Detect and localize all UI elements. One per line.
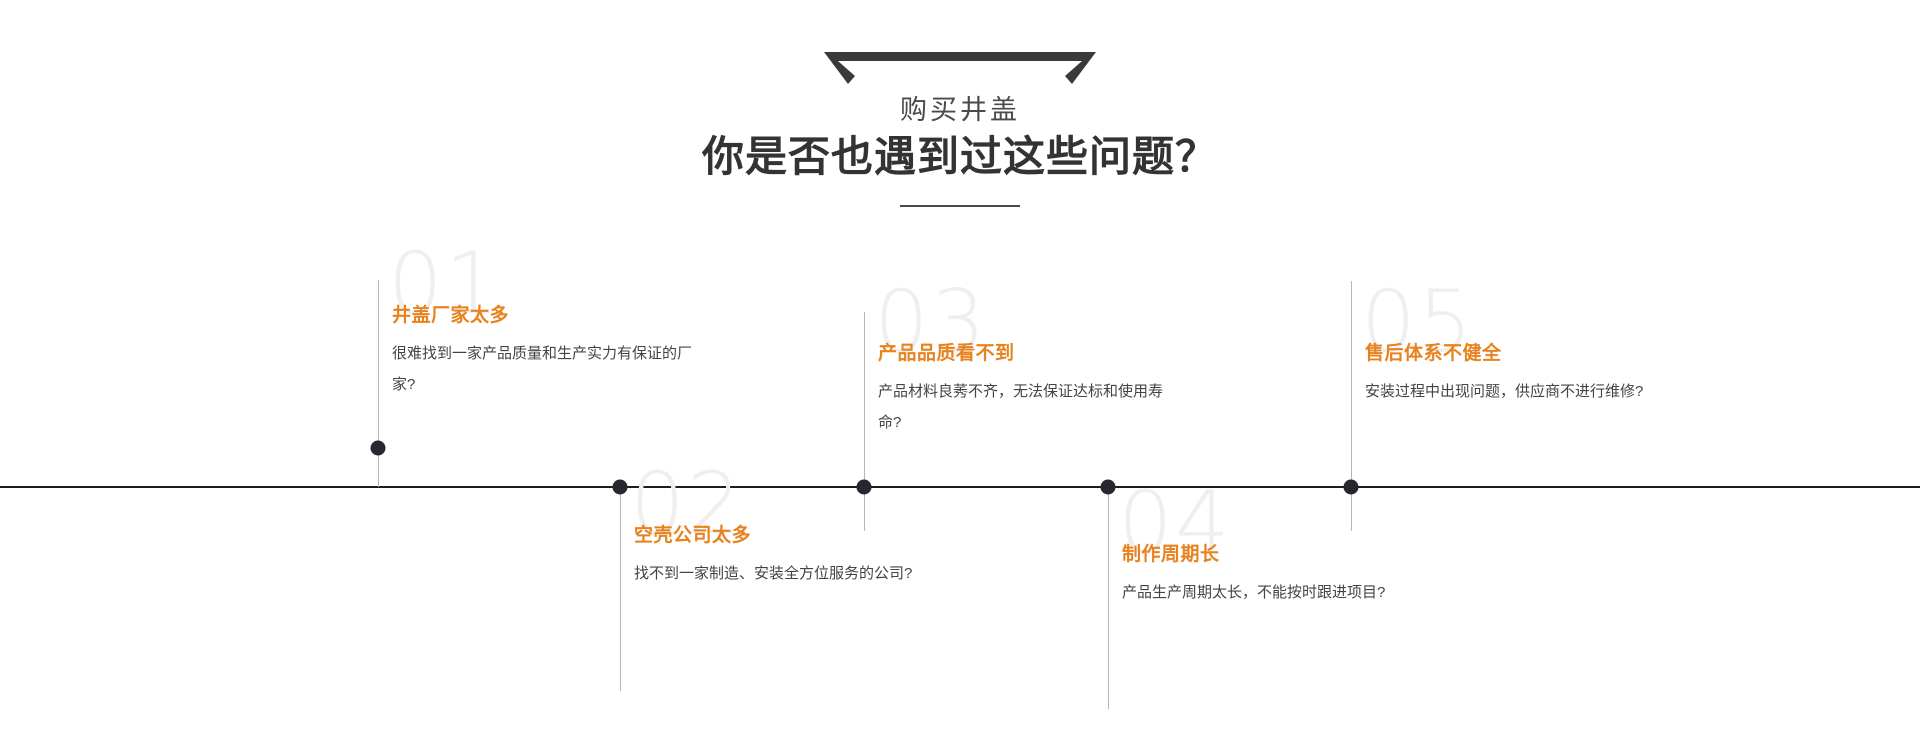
- connector-line-3: [864, 312, 865, 531]
- connector-line-1: [378, 280, 379, 487]
- timeline-dot-1[interactable]: [371, 441, 386, 456]
- bracket-chevron-icon: [824, 52, 1096, 84]
- page-title: 你是否也遇到过这些问题？: [702, 130, 1218, 184]
- item-description-4: 产品生产周期太长，不能按时跟进项目?: [1122, 577, 1422, 608]
- timeline-item-5: 05 售后体系不健全 安装过程中出现问题，供应商不进行维修?: [1365, 341, 1695, 407]
- title-divider: [900, 205, 1020, 207]
- timeline-dot-5[interactable]: [1344, 480, 1359, 495]
- timeline-item-2: 02 空壳公司太多 找不到一家制造、安装全方位服务的公司?: [634, 523, 964, 589]
- timeline-item-4: 04 制作周期长 产品生产周期太长，不能按时跟进项目?: [1122, 542, 1452, 608]
- item-heading-5: 售后体系不健全: [1365, 341, 1695, 367]
- connector-line-2: [620, 487, 621, 691]
- item-heading-2: 空壳公司太多: [634, 523, 964, 549]
- timeline-axis: [0, 486, 1920, 488]
- item-description-2: 找不到一家制造、安装全方位服务的公司?: [634, 558, 934, 589]
- poster-canvas: 购买井盖 你是否也遇到过这些问题？ 01 井盖厂家太多 很难找到一家产品质量和生…: [0, 0, 1920, 739]
- timeline-item-3: 03 产品品质看不到 产品材料良莠不齐，无法保证达标和使用寿命?: [878, 341, 1208, 438]
- header-subtitle: 购买井盖: [900, 93, 1020, 127]
- item-heading-4: 制作周期长: [1122, 542, 1452, 568]
- timeline-dot-4[interactable]: [1101, 480, 1116, 495]
- item-description-3: 产品材料良莠不齐，无法保证达标和使用寿命?: [878, 376, 1178, 438]
- timeline-dot-2[interactable]: [613, 480, 628, 495]
- item-heading-3: 产品品质看不到: [878, 341, 1208, 367]
- item-description-5: 安装过程中出现问题，供应商不进行维修?: [1365, 376, 1665, 407]
- timeline-dot-3[interactable]: [857, 480, 872, 495]
- item-description-1: 很难找到一家产品质量和生产实力有保证的厂家?: [392, 338, 692, 400]
- item-heading-1: 井盖厂家太多: [392, 303, 722, 329]
- connector-line-4: [1108, 487, 1109, 709]
- timeline-item-1: 01 井盖厂家太多 很难找到一家产品质量和生产实力有保证的厂家?: [392, 303, 722, 400]
- page-header: 购买井盖 你是否也遇到过这些问题？: [0, 0, 1920, 230]
